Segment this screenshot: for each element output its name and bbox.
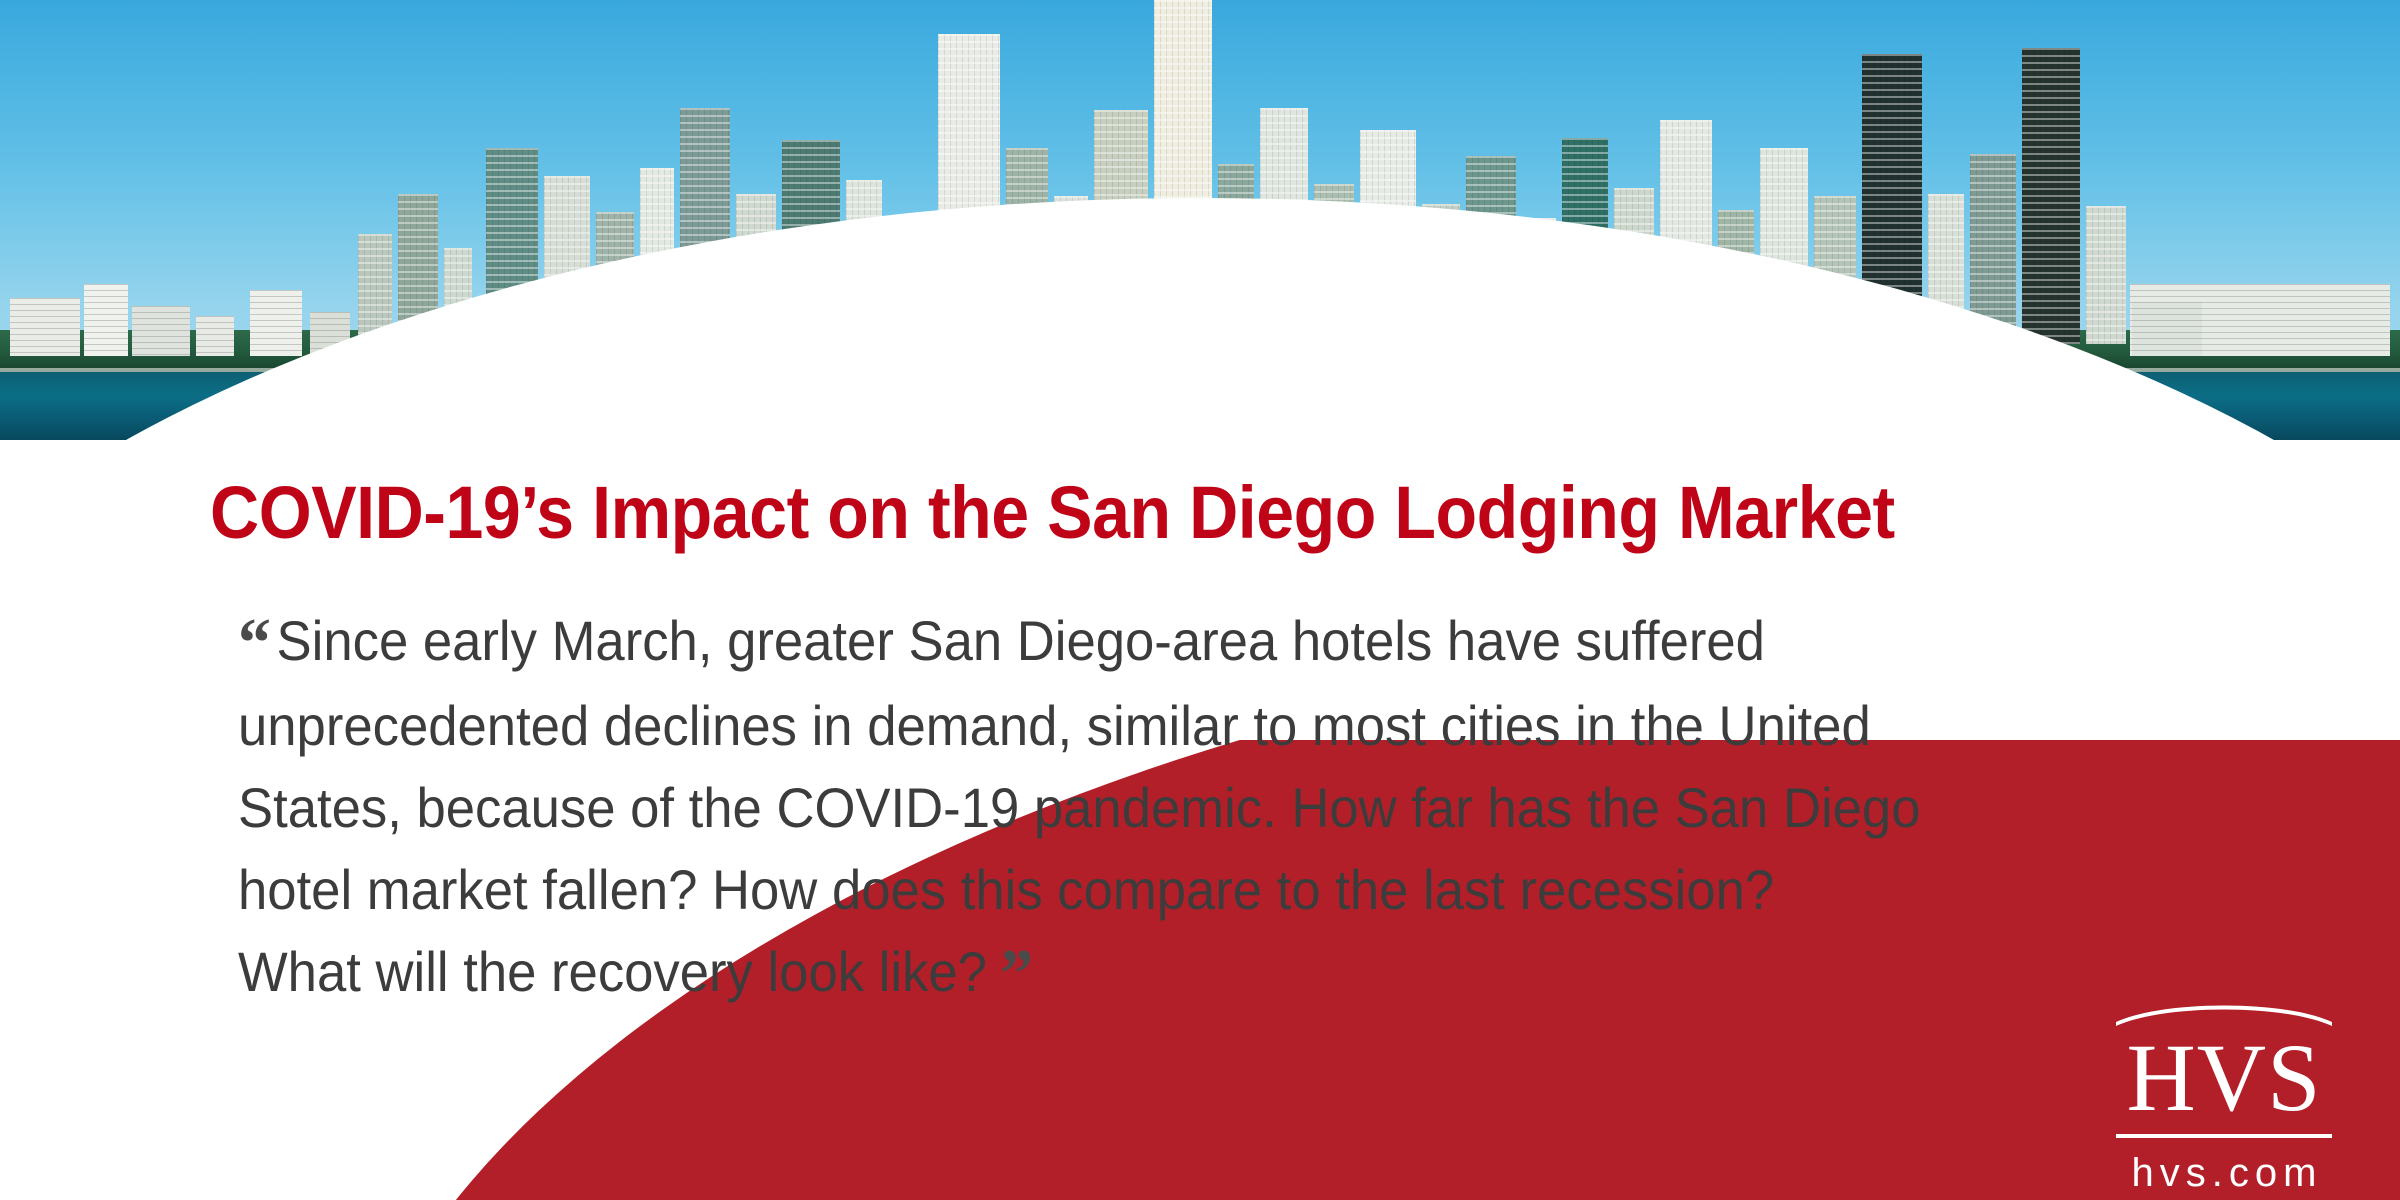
quote-line-text: hotel market fallen? How does this compa… (238, 858, 1774, 921)
quote-line: What will the recovery look like?” (238, 931, 2024, 1016)
quote-line-text: Since early March, greater San Diego-are… (277, 609, 1765, 672)
open-quote-icon: “ (238, 605, 277, 682)
quote-block: “Since early March, greater San Diego-ar… (238, 600, 2138, 1016)
hvs-logo[interactable]: HVS hvs.com (2106, 1002, 2342, 1200)
quote-line-text: States, because of the COVID-19 pandemic… (238, 776, 1920, 839)
hvs-wordmark: HVS (2106, 1030, 2342, 1126)
quote-line: hotel market fallen? How does this compa… (238, 849, 2024, 931)
quote-line: States, because of the COVID-19 pandemic… (238, 767, 2024, 849)
page-title: COVID-19’s Impact on the San Diego Lodgi… (210, 470, 2059, 556)
quote-line-text: What will the recovery look like? (238, 940, 987, 1003)
hvs-marketing-banner: COVID-19’s Impact on the San Diego Lodgi… (0, 0, 2400, 1200)
hvs-website-url[interactable]: hvs.com (2106, 1138, 2342, 1200)
banner-content: COVID-19’s Impact on the San Diego Lodgi… (0, 0, 2400, 1200)
arc-swoosh-icon (2114, 1002, 2334, 1028)
quote-line: unprecedented declines in demand, simila… (238, 685, 2024, 767)
close-quote-icon: ” (987, 936, 1027, 1013)
quote-line: “Since early March, greater San Diego-ar… (238, 600, 2024, 685)
quote-line-text: unprecedented declines in demand, simila… (238, 694, 1871, 757)
